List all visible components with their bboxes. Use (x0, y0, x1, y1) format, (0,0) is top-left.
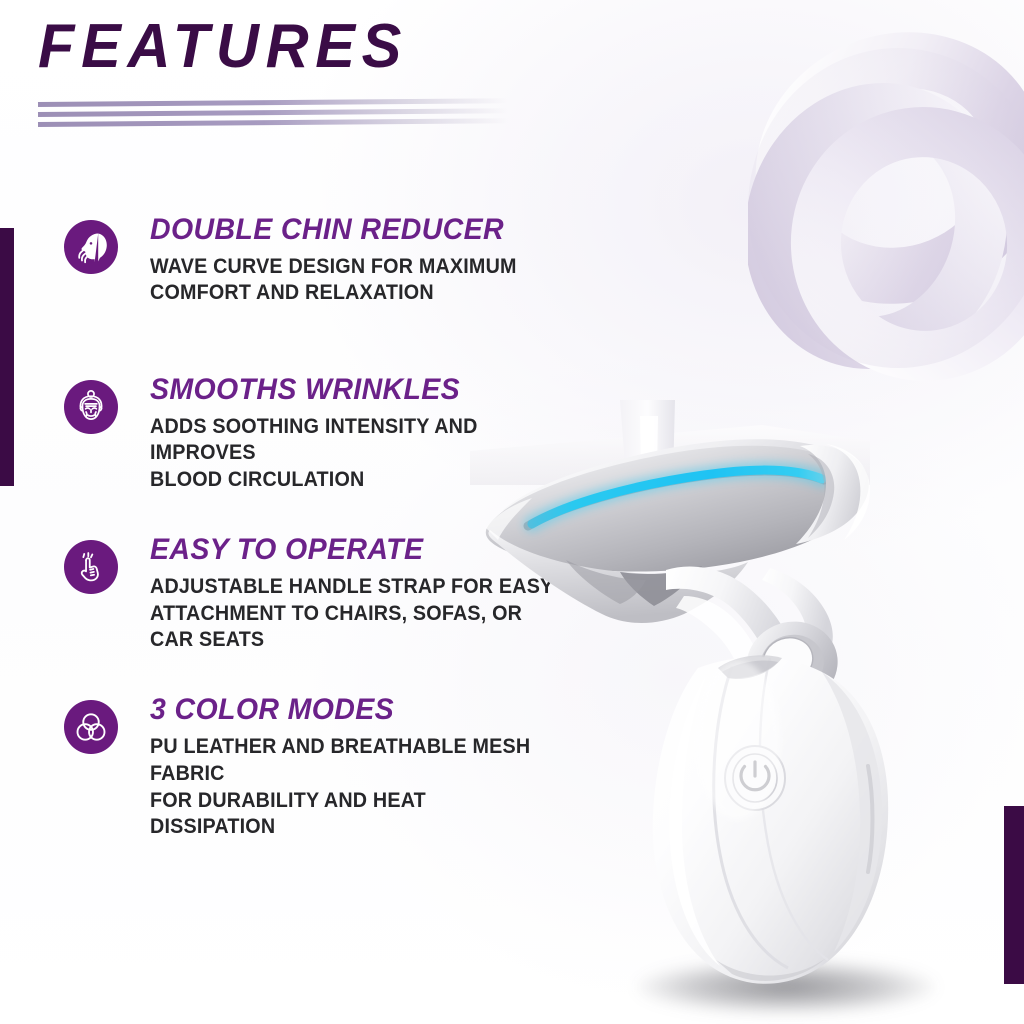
wrinkled-face-icon (64, 380, 118, 434)
feature-heading: 3 COLOR MODES (150, 694, 559, 726)
title-rule-3 (38, 118, 508, 127)
feature-description: ADDS SOOTHING INTENSITY AND IMPROVES BLO… (150, 414, 554, 495)
title-rule-1 (38, 98, 508, 107)
feature-list: DOUBLE CHIN REDUCER WAVE CURVE DESIGN FO… (60, 214, 580, 841)
feature-description: WAVE CURVE DESIGN FOR MAXIMUM COMFORT AN… (150, 254, 554, 308)
abstract-ring-ornament (748, 18, 1024, 398)
feature-item: SMOOTHS WRINKLES ADDS SOOTHING INTENSITY… (60, 374, 580, 494)
left-purple-bar (0, 228, 14, 486)
right-purple-bar (1004, 806, 1024, 984)
infographic-canvas: FEATURES DOUBLE CHIN (0, 0, 1024, 1024)
feature-heading: EASY TO OPERATE (150, 534, 559, 566)
feature-heading: DOUBLE CHIN REDUCER (150, 214, 559, 246)
page-title: FEATURES (38, 14, 710, 79)
feature-description: PU LEATHER AND BREATHABLE MESH FABRIC FO… (150, 734, 554, 842)
device-ground-shadow (636, 960, 936, 1014)
title-underline-rules (38, 100, 508, 132)
feature-item: EASY TO OPERATE ADJUSTABLE HANDLE STRAP … (60, 534, 580, 654)
feature-heading: SMOOTHS WRINKLES (150, 374, 559, 406)
title-rule-2 (38, 108, 508, 117)
face-profile-chin-icon (64, 220, 118, 274)
feature-item: 3 COLOR MODES PU LEATHER AND BREATHABLE … (60, 694, 580, 841)
device-handle-body (653, 657, 888, 984)
feature-item: DOUBLE CHIN REDUCER WAVE CURVE DESIGN FO… (60, 214, 580, 334)
power-button (725, 746, 785, 810)
tapping-hand-icon (64, 540, 118, 594)
three-overlapping-circles-icon (64, 700, 118, 754)
page-title-block: FEATURES (38, 14, 738, 79)
swivel-joint (735, 610, 848, 718)
feature-description: ADJUSTABLE HANDLE STRAP FOR EASY ATTACHM… (150, 574, 554, 655)
